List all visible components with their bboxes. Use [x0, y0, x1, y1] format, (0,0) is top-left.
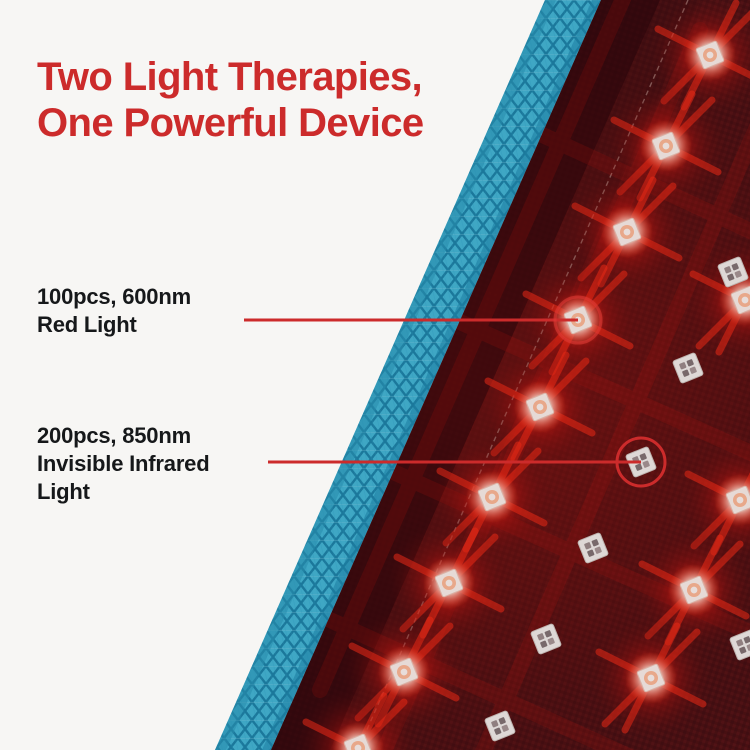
headline-line-1: Two Light Therapies,: [37, 54, 507, 100]
callout-label-infrared-light: 200pcs, 850nm Invisible Infrared Light: [37, 422, 209, 506]
callout-ir-line-2: Invisible Infrared: [37, 450, 209, 478]
callout-ir-line-3: Light: [37, 478, 209, 506]
callout-ir-line-1: 200pcs, 850nm: [37, 422, 209, 450]
infographic-canvas: Two Light Therapies, One Powerful Device…: [0, 0, 750, 750]
callout-red-line-1: 100pcs, 600nm: [37, 283, 191, 311]
callout-label-red-light: 100pcs, 600nm Red Light: [37, 283, 191, 339]
page-title: Two Light Therapies, One Powerful Device: [37, 54, 507, 147]
callout-red-line-2: Red Light: [37, 311, 191, 339]
headline-line-2: One Powerful Device: [37, 100, 507, 146]
